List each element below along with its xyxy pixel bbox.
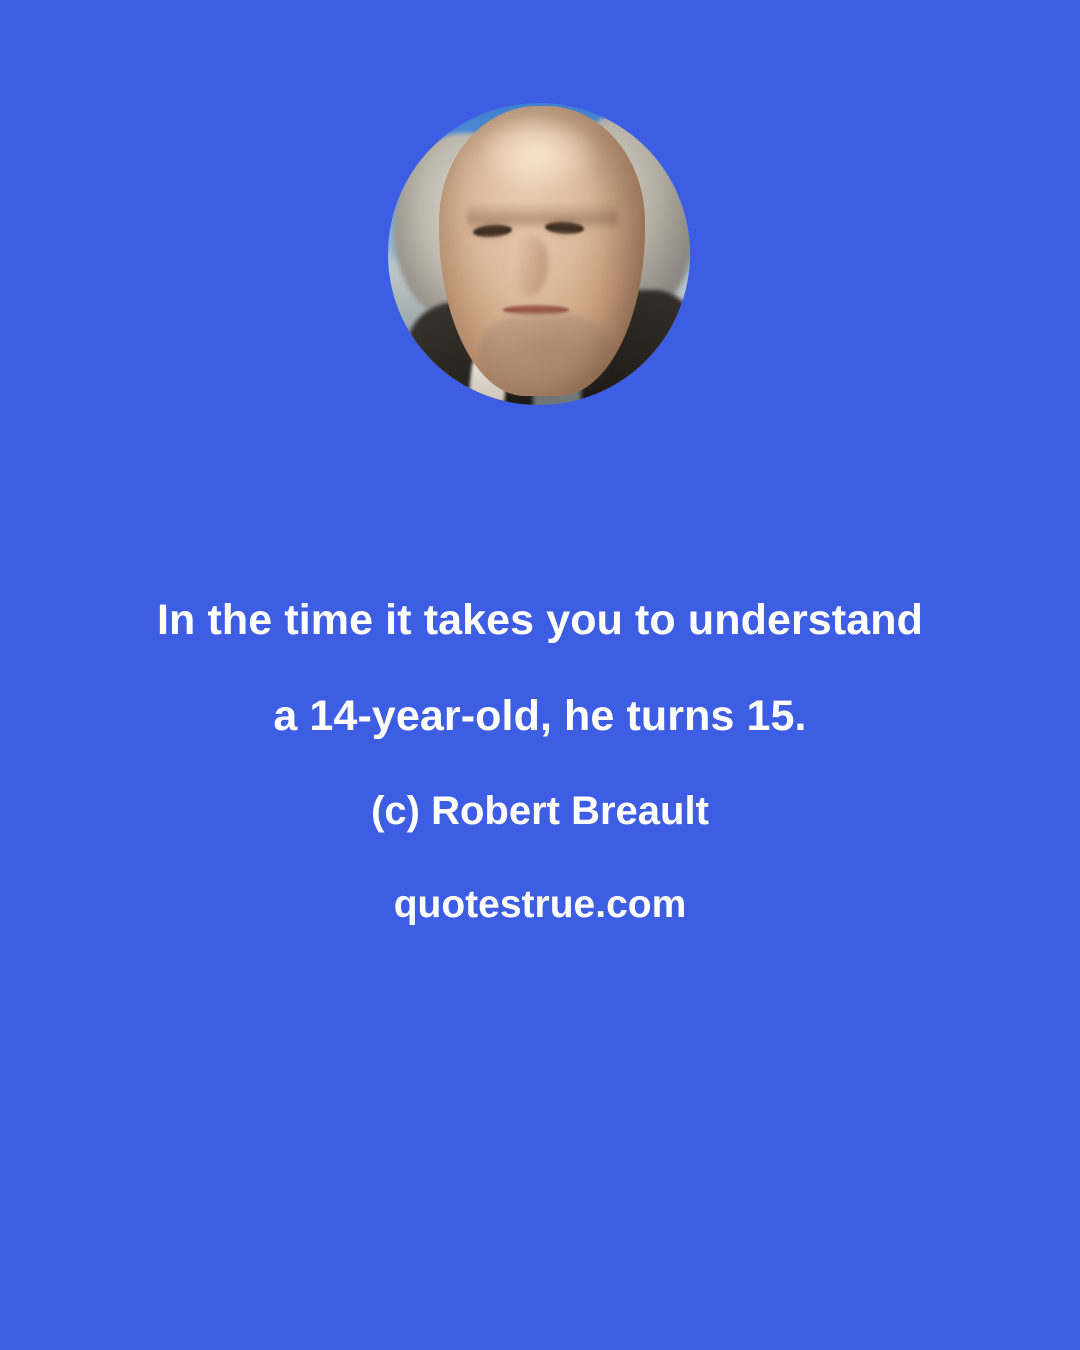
- quote-card: In the time it takes you to understand a…: [0, 0, 1080, 1350]
- photo-nose: [509, 236, 548, 296]
- quote-line-1: In the time it takes you to understand: [0, 596, 1080, 645]
- quote-author: (c) Robert Breault: [0, 789, 1080, 834]
- source-website: quotestrue.com: [0, 883, 1080, 927]
- avatar: [388, 103, 690, 405]
- avatar-photo: [388, 103, 690, 405]
- quote-line-2: a 14-year-old, he turns 15.: [0, 692, 1080, 741]
- photo-jaw-stubble: [479, 314, 612, 399]
- photo-forehead-highlight: [479, 121, 600, 193]
